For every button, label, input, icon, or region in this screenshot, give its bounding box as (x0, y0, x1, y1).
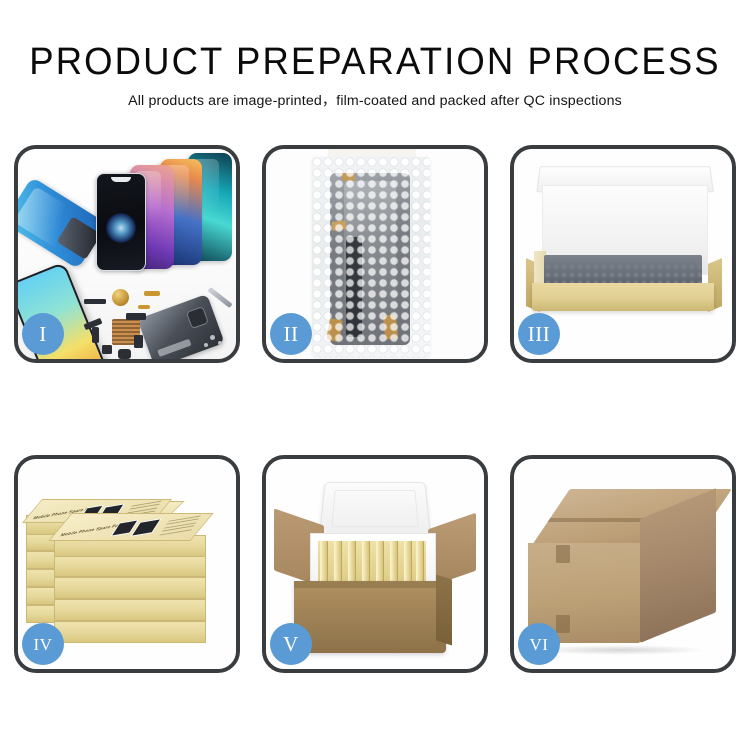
screw-icon (210, 335, 215, 340)
chip-icon (84, 299, 106, 304)
step-badge-5: V (270, 623, 312, 665)
screw-icon (204, 343, 208, 347)
spec-lines-icon (158, 515, 201, 537)
process-step-1: I (14, 145, 240, 363)
flex-cable-icon (126, 313, 146, 320)
process-step-5: V (262, 455, 488, 673)
vibrator-icon (118, 349, 131, 359)
speaker-coil-icon (112, 289, 129, 306)
step-badge-1: I (22, 313, 64, 355)
retail-box-icon (54, 599, 206, 621)
connector-icon (134, 335, 143, 348)
screen-wallpaper-icon (106, 213, 136, 243)
bubble-highlight-icon (312, 157, 430, 357)
carton-front-panel-icon (294, 581, 446, 653)
process-step-6: VI (510, 455, 736, 673)
camera-module-icon (186, 306, 209, 329)
process-step-4: Mobile Phone Spare Parts (14, 455, 240, 673)
box-front-panel-icon (532, 283, 714, 311)
phone-notch-icon (111, 177, 131, 182)
packing-tape-icon (556, 545, 570, 563)
retail-box-icon (54, 577, 206, 599)
retail-box-icon (54, 555, 206, 577)
flex-cable-icon (92, 327, 99, 343)
packed-boxes-icon (318, 541, 426, 585)
bubble-wrap-bag-icon (312, 157, 430, 357)
screen-protector-icon (96, 173, 146, 271)
process-step-3: III (510, 145, 736, 363)
gold-contact-icon (144, 291, 160, 296)
foam-lid-icon (319, 482, 431, 537)
retail-box-printed-face-icon: Mobile Phone Spare Parts (48, 513, 213, 541)
page-subtitle: All products are image-printed，film-coat… (0, 82, 750, 110)
blue-adhesive-panel-icon (18, 177, 107, 269)
gold-contact-icon (138, 305, 150, 309)
step-badge-4: IV (22, 623, 64, 665)
packing-tape-icon (556, 615, 570, 633)
header: PRODUCT PREPARATION PROCESS All products… (0, 0, 750, 110)
retail-box-icon (54, 621, 206, 643)
step-badge-3: III (518, 313, 560, 355)
process-step-2: II (262, 145, 488, 363)
product-preparation-infographic: PRODUCT PREPARATION PROCESS All products… (0, 0, 750, 750)
small-part-icon (102, 345, 112, 354)
step-badge-6: VI (518, 623, 560, 665)
screw-icon (218, 341, 222, 345)
phone-housing-icon (137, 294, 224, 359)
step-badge-2: II (270, 313, 312, 355)
page-title: PRODUCT PREPARATION PROCESS (15, 0, 735, 82)
housing-label-icon (157, 339, 191, 357)
process-step-grid: I II (14, 145, 736, 673)
carton-side-panel-icon (436, 575, 452, 646)
